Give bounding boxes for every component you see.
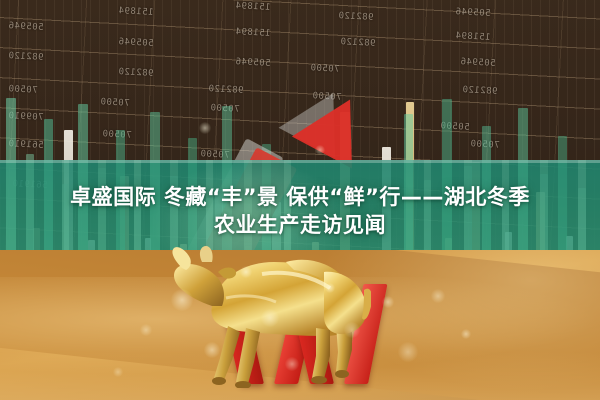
news-banner-image: 1518945059465059469821201518949821207050… [0, 0, 600, 400]
headline-line-2: 农业生产走访见闻 [214, 212, 386, 238]
headline-block: 卓盛国际 冬藏“丰”景 保供“鲜”行——湖北冬季 农业生产走访见闻 [0, 162, 600, 260]
headline-line-1: 卓盛国际 冬藏“丰”景 保供“鲜”行——湖北冬季 [70, 184, 530, 210]
